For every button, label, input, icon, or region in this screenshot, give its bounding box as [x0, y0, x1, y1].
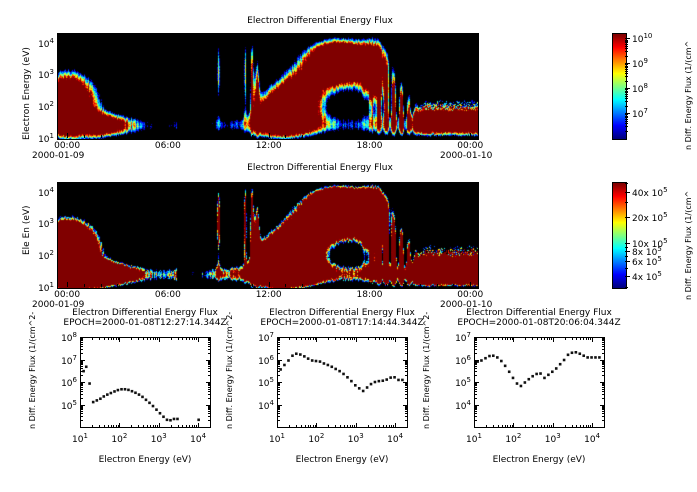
colorbar-2-tick-20: 20x 105: [632, 211, 668, 224]
spectrum-2-xtick-4: 104: [381, 432, 409, 445]
xminor: [379, 337, 380, 340]
spectrum-3-subtitle: EPOCH=2000-01-08T20:06:04.344Z: [406, 318, 672, 328]
yminor: [474, 385, 477, 386]
cbar2-tick-mark: [625, 243, 630, 244]
xminor: [525, 425, 526, 428]
s2-ytick-3: 103: [30, 217, 54, 230]
spectrum-3-xtick-2: 102: [499, 432, 527, 445]
yminor: [208, 387, 211, 388]
xminor: [352, 425, 353, 428]
xminor: [285, 33, 286, 36]
xminor: [113, 425, 114, 428]
yminor: [277, 387, 280, 388]
xminor: [201, 284, 202, 287]
xtick-mark: [474, 423, 475, 428]
yminor: [474, 407, 477, 408]
yminor: [602, 371, 605, 372]
xminor: [393, 425, 394, 428]
xtick-mark: [356, 337, 357, 342]
yminor: [474, 416, 477, 417]
xminor: [305, 425, 306, 428]
yminor: [80, 349, 83, 350]
xminor: [541, 425, 542, 428]
xminor: [354, 425, 355, 428]
xminor: [235, 284, 236, 287]
cbar-minor: [625, 73, 628, 74]
colorbar-1-tick-8: 108: [632, 82, 648, 95]
spectrum-3-ytick-5: 105: [446, 376, 471, 389]
cbar-minor: [625, 123, 628, 124]
spectrum-2-ytick-6: 106: [249, 354, 274, 367]
yminor: [405, 413, 408, 414]
spectrum-2-xtick-1: 101: [263, 432, 291, 445]
yminor: [277, 344, 280, 345]
xminor: [147, 425, 148, 428]
yminor: [277, 389, 280, 390]
yminor: [602, 366, 605, 367]
xminor: [186, 337, 187, 340]
yminor: [405, 371, 408, 372]
xminor: [117, 135, 118, 138]
cbar-minor: [625, 117, 628, 118]
cbar-minor: [625, 114, 628, 115]
spectrum-3-ytick-7: 107: [446, 331, 471, 344]
spectrogram-1-xdate-left: 2000-01-09: [32, 151, 84, 161]
spectrogram-1-image: [57, 33, 479, 140]
yminor: [602, 364, 605, 365]
xminor: [537, 425, 538, 428]
spectrogram-1-title: Electron Differential Energy Flux: [160, 16, 480, 26]
yminor: [474, 346, 477, 347]
xminor: [315, 425, 316, 428]
xminor: [386, 135, 387, 138]
yminor: [80, 353, 83, 354]
s2-ytick-4: 104: [30, 186, 54, 199]
xminor: [178, 337, 179, 340]
xminor: [510, 425, 511, 428]
yminor: [602, 389, 605, 390]
xminor: [347, 425, 348, 428]
cbar-minor: [625, 91, 628, 92]
xtick-mark: [316, 337, 317, 342]
yminor: [602, 368, 605, 369]
yminor: [405, 409, 408, 410]
yminor: [80, 368, 83, 369]
yminor: [474, 413, 477, 414]
xminor: [590, 425, 591, 428]
colorbar-1-tick-10: 1010: [632, 32, 652, 45]
yminor: [277, 408, 280, 409]
xminor: [507, 425, 508, 428]
xminor: [302, 135, 303, 138]
xminor: [157, 425, 158, 428]
xminor: [189, 425, 190, 428]
xminor: [590, 337, 591, 340]
cbar-minor: [625, 96, 628, 97]
yminor: [602, 363, 605, 364]
xminor: [403, 182, 404, 185]
yminor: [405, 340, 408, 341]
xtick-mark: [80, 337, 81, 342]
yminor: [80, 384, 83, 385]
yminor: [208, 362, 211, 363]
xminor: [335, 337, 336, 340]
yminor: [602, 394, 605, 395]
xminor: [541, 337, 542, 340]
yminor: [602, 413, 605, 414]
xminor: [302, 182, 303, 185]
xminor: [117, 284, 118, 287]
xminor: [84, 33, 85, 36]
yminor: [277, 420, 280, 421]
yminor: [405, 385, 408, 386]
yminor: [80, 371, 83, 372]
yminor: [277, 371, 280, 372]
spectrum-3-canvas: [474, 337, 606, 429]
cbar-minor: [625, 126, 628, 127]
xminor: [403, 284, 404, 287]
xminor: [340, 337, 341, 340]
xtick-mark: [168, 33, 169, 38]
xminor: [155, 337, 156, 340]
xminor: [547, 425, 548, 428]
yminor: [474, 406, 477, 407]
yminor: [277, 363, 280, 364]
yminor: [474, 411, 477, 412]
xminor: [99, 425, 100, 428]
xminor: [289, 425, 290, 428]
xminor: [507, 337, 508, 340]
xminor: [134, 135, 135, 138]
yminor: [405, 416, 408, 417]
cbar2-minor: [625, 217, 628, 218]
xminor: [151, 182, 152, 185]
yminor: [208, 413, 211, 414]
s2-ytick-2: 102: [30, 249, 54, 262]
xminor: [532, 425, 533, 428]
yminor: [208, 353, 211, 354]
cbar-minor: [625, 98, 628, 99]
spectrogram-2-image: [57, 182, 479, 289]
s2-xtick-0000: 00:00: [51, 290, 83, 300]
yminor: [405, 375, 408, 376]
xminor: [101, 182, 102, 185]
xminor: [150, 425, 151, 428]
yminor: [208, 389, 211, 390]
xminor: [218, 33, 219, 36]
xtick-mark: [198, 423, 199, 428]
xminor: [319, 33, 320, 36]
spectrum-2-ytick-5: 105: [249, 376, 274, 389]
xminor: [101, 33, 102, 36]
xtick-mark: [119, 423, 120, 428]
xminor: [347, 337, 348, 340]
xminor: [138, 425, 139, 428]
yminor: [208, 406, 211, 407]
yminor: [405, 408, 408, 409]
xminor: [512, 337, 513, 340]
yminor: [602, 416, 605, 417]
xminor: [547, 337, 548, 340]
spectrum-1-ytick-6: 106: [52, 376, 77, 389]
colorbar-1-tick-7: 107: [632, 107, 648, 120]
yminor: [474, 375, 477, 376]
yminor: [474, 387, 477, 388]
yminor: [277, 375, 280, 376]
spectrum-3-ylabel: n Diff. Energy Flux (1/(cm^2-: [422, 312, 431, 429]
xminor: [510, 337, 511, 340]
xminor: [386, 284, 387, 287]
cbar-minor: [625, 56, 628, 57]
xminor: [185, 33, 186, 36]
xminor: [143, 425, 144, 428]
xminor: [453, 135, 454, 138]
spectrum-2-xtick-2: 102: [302, 432, 330, 445]
yminor: [277, 383, 280, 384]
xtick-mark: [513, 337, 514, 342]
yminor: [602, 383, 605, 384]
yminor: [80, 389, 83, 390]
xminor: [84, 135, 85, 138]
xminor: [201, 135, 202, 138]
spectrogram-1-ylabel: Electron Energy (eV): [22, 47, 32, 140]
yminor: [277, 342, 280, 343]
xminor: [328, 425, 329, 428]
xminor: [118, 425, 119, 428]
xminor: [420, 182, 421, 185]
spectrum-1-ytick-7: 107: [52, 354, 77, 367]
yminor: [277, 398, 280, 399]
xminor: [493, 425, 494, 428]
yminor: [474, 389, 477, 390]
xminor: [157, 337, 158, 340]
xtick-mark: [592, 423, 593, 428]
xminor: [551, 425, 552, 428]
xtick-mark: [67, 33, 68, 38]
yminor: [474, 383, 477, 384]
cbar2-minor: [625, 183, 628, 184]
xminor: [319, 284, 320, 287]
xminor: [565, 337, 566, 340]
yminor: [405, 406, 408, 407]
xminor: [131, 425, 132, 428]
xminor: [588, 425, 589, 428]
xminor: [285, 135, 286, 138]
colorbar-2-tick-6: 6x 105: [632, 255, 662, 268]
xminor: [138, 337, 139, 340]
xminor: [344, 425, 345, 428]
xtick-mark: [395, 423, 396, 428]
colorbar-2-tick-40: 40x 105: [632, 186, 668, 199]
yminor: [405, 364, 408, 365]
yminor: [80, 391, 83, 392]
xtick-mark: [269, 133, 270, 138]
xminor: [252, 182, 253, 185]
xminor: [252, 33, 253, 36]
xminor: [151, 135, 152, 138]
yminor: [277, 409, 280, 410]
xminor: [437, 33, 438, 36]
yminor: [277, 368, 280, 369]
yminor: [208, 394, 211, 395]
yminor: [277, 366, 280, 367]
spectrogram-1-xdate-right: 2000-01-10: [440, 151, 492, 161]
yminor: [277, 349, 280, 350]
spectrum-3-plot-area: [474, 337, 606, 429]
xminor: [92, 337, 93, 340]
xtick-mark: [369, 282, 370, 287]
xminor: [391, 337, 392, 340]
yminor: [405, 384, 408, 385]
xminor: [155, 425, 156, 428]
xminor: [308, 425, 309, 428]
xminor: [296, 425, 297, 428]
yminor: [474, 342, 477, 343]
yminor: [208, 371, 211, 372]
xminor: [453, 284, 454, 287]
colorbar-2-tick-4: 4x 105: [632, 270, 662, 283]
xminor: [393, 337, 394, 340]
yminor: [208, 391, 211, 392]
spectrum-1-ylabel: n Diff. Energy Flux (1/(cm^2-: [28, 312, 37, 429]
xminor: [252, 284, 253, 287]
xminor: [586, 337, 587, 340]
xminor: [194, 337, 195, 340]
yminor: [602, 340, 605, 341]
xminor: [301, 337, 302, 340]
yminor: [80, 385, 83, 386]
xminor: [389, 337, 390, 340]
yminor: [80, 364, 83, 365]
yminor: [208, 364, 211, 365]
cbar-minor: [625, 51, 628, 52]
xminor: [386, 425, 387, 428]
xminor: [134, 182, 135, 185]
xminor: [350, 425, 351, 428]
cbar2-minor: [625, 256, 628, 257]
spectrum-3-xtick-1: 101: [460, 432, 488, 445]
xminor: [537, 337, 538, 340]
xminor: [134, 33, 135, 36]
yminor: [602, 385, 605, 386]
spectrum-1-xtick-4: 104: [184, 432, 212, 445]
yminor: [208, 375, 211, 376]
cbar-minor: [625, 71, 628, 72]
xminor: [583, 337, 584, 340]
yminor: [405, 387, 408, 388]
xminor: [576, 337, 577, 340]
yminor: [277, 346, 280, 347]
cbar2-minor: [625, 287, 628, 288]
xminor: [551, 337, 552, 340]
xtick-mark: [592, 337, 593, 342]
spectrum-1-ytick-5: 105: [52, 399, 77, 412]
spectrum-3-title: Electron Differential Energy Flux: [406, 308, 672, 318]
spectrum-3-ytick-6: 106: [446, 354, 471, 367]
xminor: [182, 425, 183, 428]
yminor: [405, 349, 408, 350]
yminor: [80, 363, 83, 364]
yminor: [277, 391, 280, 392]
xminor: [353, 33, 354, 36]
xtick-mark: [369, 133, 370, 138]
yminor: [474, 361, 477, 362]
yminor: [80, 413, 83, 414]
xminor: [532, 337, 533, 340]
xminor: [171, 425, 172, 428]
cbar-minor: [625, 94, 628, 95]
xminor: [185, 284, 186, 287]
cbar-minor: [625, 40, 628, 41]
xminor: [218, 182, 219, 185]
xtick-mark: [80, 423, 81, 428]
xtick-mark: [269, 182, 270, 187]
xminor: [437, 182, 438, 185]
xminor: [350, 337, 351, 340]
yminor: [277, 394, 280, 395]
xminor: [336, 182, 337, 185]
yminor: [405, 366, 408, 367]
yminor: [80, 361, 83, 362]
xminor: [353, 284, 354, 287]
xminor: [336, 33, 337, 36]
yminor: [80, 346, 83, 347]
yminor: [208, 366, 211, 367]
yminor: [602, 361, 605, 362]
xminor: [437, 284, 438, 287]
cbar-minor: [625, 69, 628, 70]
xminor: [101, 284, 102, 287]
xminor: [252, 135, 253, 138]
yminor: [277, 407, 280, 408]
yminor: [80, 362, 83, 363]
xminor: [403, 135, 404, 138]
xminor: [525, 337, 526, 340]
xtick-mark: [67, 182, 68, 187]
xminor: [194, 425, 195, 428]
spectrum-1-ytick-8: 108: [52, 331, 77, 344]
cbar-minor: [625, 42, 628, 43]
xtick-mark: [269, 33, 270, 38]
xminor: [118, 337, 119, 340]
cbar-minor: [625, 101, 628, 102]
yminor: [208, 340, 211, 341]
spectrum-2-plot-area: [277, 337, 409, 429]
colorbar-2-label: n Diff. Energy Flux (1/(cm^: [684, 191, 693, 300]
xminor: [565, 425, 566, 428]
xminor: [153, 425, 154, 428]
spectrum-2-ytick-7: 107: [249, 331, 274, 344]
yminor: [80, 344, 83, 345]
xminor: [549, 337, 550, 340]
yminor: [474, 353, 477, 354]
xminor: [104, 425, 105, 428]
yminor: [208, 368, 211, 369]
spectrum-2-xtick-3: 103: [342, 432, 370, 445]
yminor: [602, 375, 605, 376]
yminor: [602, 342, 605, 343]
xtick-mark: [356, 423, 357, 428]
cbar-minor: [625, 116, 628, 117]
yminor: [80, 420, 83, 421]
xtick-mark: [198, 337, 199, 342]
yminor: [474, 409, 477, 410]
yminor: [208, 409, 211, 410]
xminor: [143, 337, 144, 340]
xminor: [310, 337, 311, 340]
xminor: [308, 337, 309, 340]
xminor: [296, 337, 297, 340]
